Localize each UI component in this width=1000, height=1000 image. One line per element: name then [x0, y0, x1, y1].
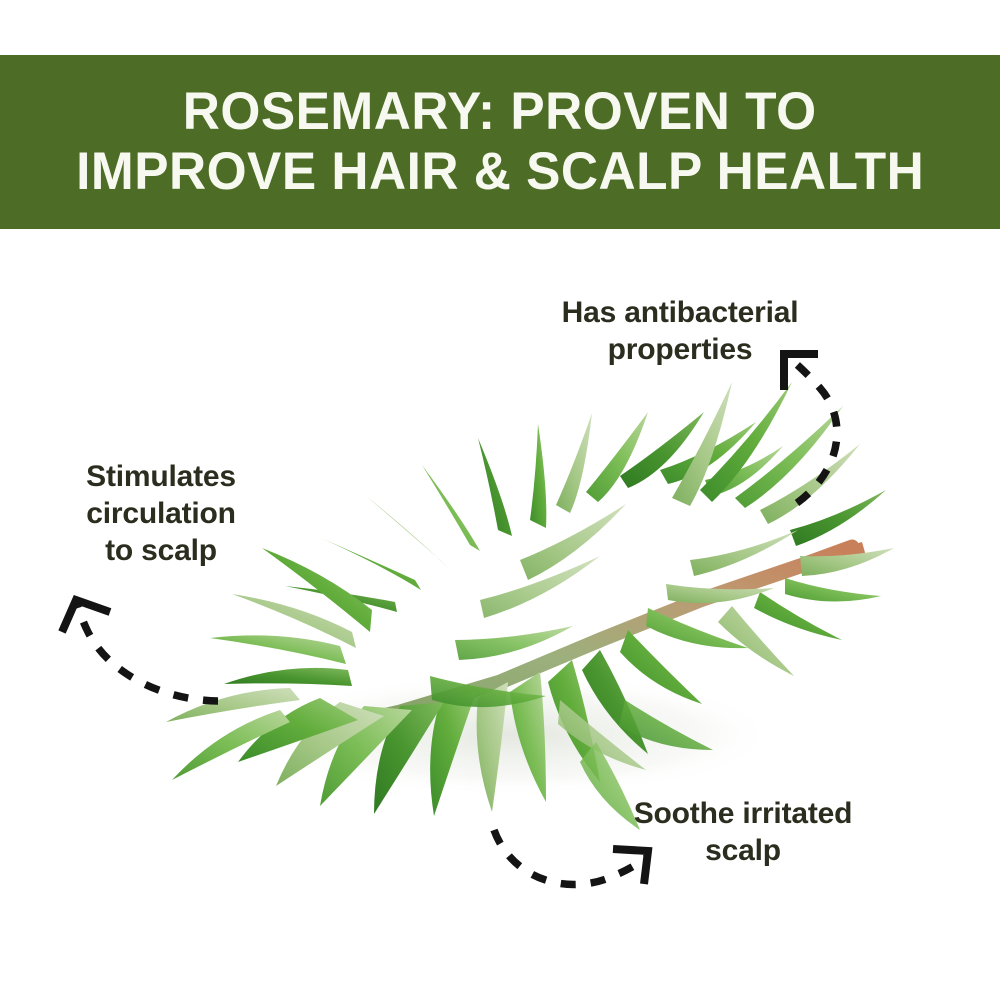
- annotation-antibacterial-line-2: properties: [500, 331, 860, 368]
- sprig-needles: [166, 382, 894, 830]
- header-title-line-1: ROSEMARY: PROVEN TO: [183, 82, 817, 142]
- annotation-circulation-line-2: circulation: [42, 495, 280, 532]
- infographic-page: ROSEMARY: PROVEN TO IMPROVE HAIR & SCALP…: [0, 0, 1000, 1000]
- arrow-antibacterial: [784, 354, 837, 503]
- annotation-soothe-line-1: Soothe irritated: [588, 795, 898, 832]
- sprig-shadow: [250, 673, 780, 797]
- header-banner: ROSEMARY: PROVEN TO IMPROVE HAIR & SCALP…: [0, 55, 1000, 229]
- arrow-circulation: [62, 600, 218, 701]
- annotation-soothe-line-2: scalp: [588, 832, 898, 869]
- sprig-stem: [340, 542, 866, 726]
- annotation-circulation: Stimulates circulation to scalp: [42, 458, 280, 570]
- annotation-antibacterial: Has antibacterial properties: [500, 294, 860, 368]
- annotation-circulation-line-1: Stimulates: [42, 458, 280, 495]
- annotation-soothe: Soothe irritated scalp: [588, 795, 898, 869]
- annotation-circulation-line-3: to scalp: [42, 532, 280, 569]
- header-title-line-2: IMPROVE HAIR & SCALP HEALTH: [76, 142, 924, 202]
- annotation-antibacterial-line-1: Has antibacterial: [500, 294, 860, 331]
